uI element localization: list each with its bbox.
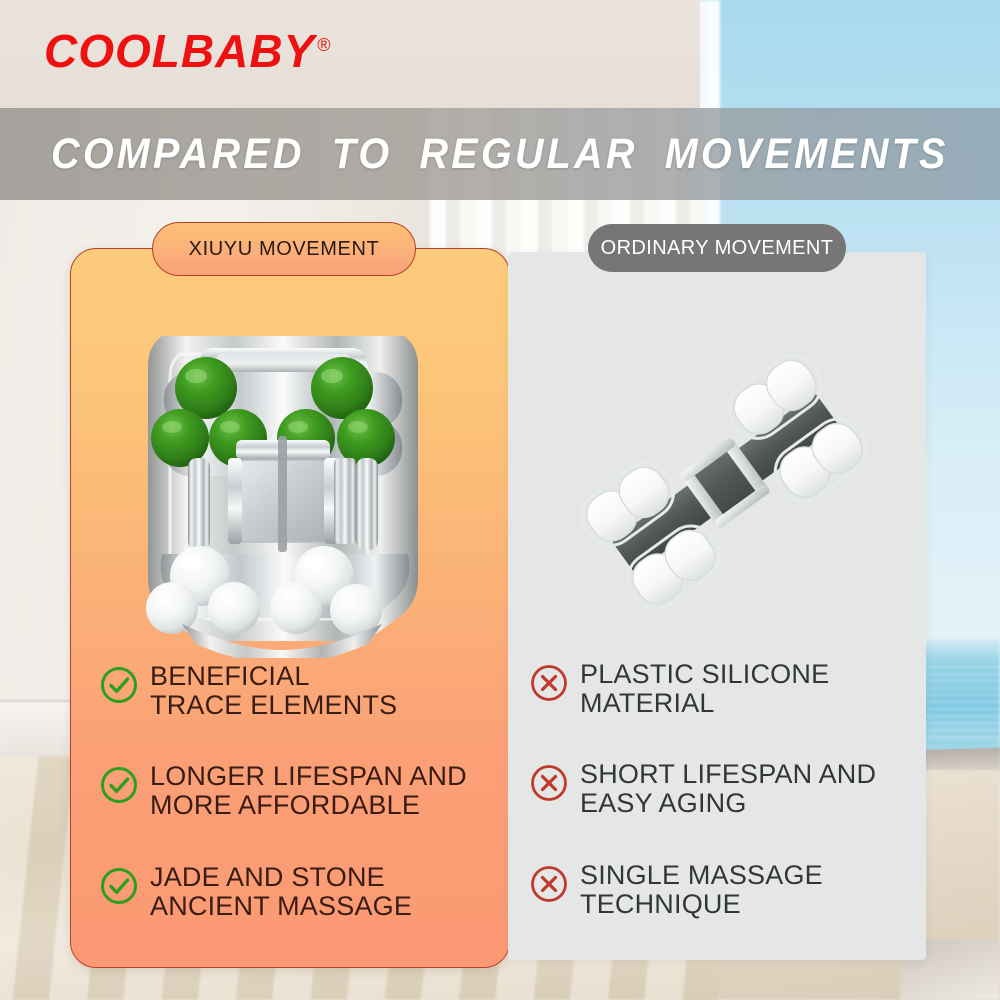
cross-circle-icon [530,865,568,903]
list-item: SINGLE MASSAGE TECHNIQUE [530,861,910,919]
feature-text: BENEFICIAL TRACE ELEMENTS [150,662,397,720]
list-item: LONGER LIFESPAN AND MORE AFFORDABLE [100,762,500,820]
feature-text: PLASTIC SILICONE MATERIAL [580,660,829,718]
check-circle-icon [100,666,138,704]
headline-banner: COMPARED TO REGULAR MOVEMENTS [0,108,1000,200]
cross-circle-icon [530,664,568,702]
xiuyu-header-label: XIUYU MOVEMENT [189,238,380,261]
headline-text: COMPARED TO REGULAR MOVEMENTS [51,130,949,179]
infographic-stage: COOLBABY® COMPARED TO REGULAR MOVEMENTS [0,0,1000,1000]
list-item: SHORT LIFESPAN AND EASY AGING [530,760,910,818]
list-item: PLASTIC SILICONE MATERIAL [530,660,910,718]
check-circle-icon [100,867,138,905]
feature-text: JADE AND STONE ANCIENT MASSAGE [150,863,412,921]
feature-text: LONGER LIFESPAN AND MORE AFFORDABLE [150,762,467,820]
check-circle-icon [100,766,138,804]
brand-logo: COOLBABY® [44,28,331,74]
xiuyu-product-image [128,308,438,658]
list-item: JADE AND STONE ANCIENT MASSAGE [100,863,500,921]
xiuyu-feature-list: BENEFICIAL TRACE ELEMENTS LONGER LIFESPA… [100,662,500,921]
registered-trademark-icon: ® [317,35,330,55]
list-item: BENEFICIAL TRACE ELEMENTS [100,662,500,720]
ordinary-feature-list: PLASTIC SILICONE MATERIAL SHORT LIFESPAN… [530,660,910,919]
brand-logo-text: COOLBABY [44,25,315,77]
xiuyu-product-svg [128,308,438,658]
xiuyu-header-pill: XIUYU MOVEMENT [152,222,416,276]
feature-text: SHORT LIFESPAN AND EASY AGING [580,760,876,818]
ordinary-header-label: ORDINARY MOVEMENT [601,237,834,260]
ordinary-product-svg [575,345,875,620]
ordinary-header-pill: ORDINARY MOVEMENT [588,224,846,272]
feature-text: SINGLE MASSAGE TECHNIQUE [580,861,823,919]
cross-circle-icon [530,764,568,802]
ordinary-product-image [575,345,875,620]
